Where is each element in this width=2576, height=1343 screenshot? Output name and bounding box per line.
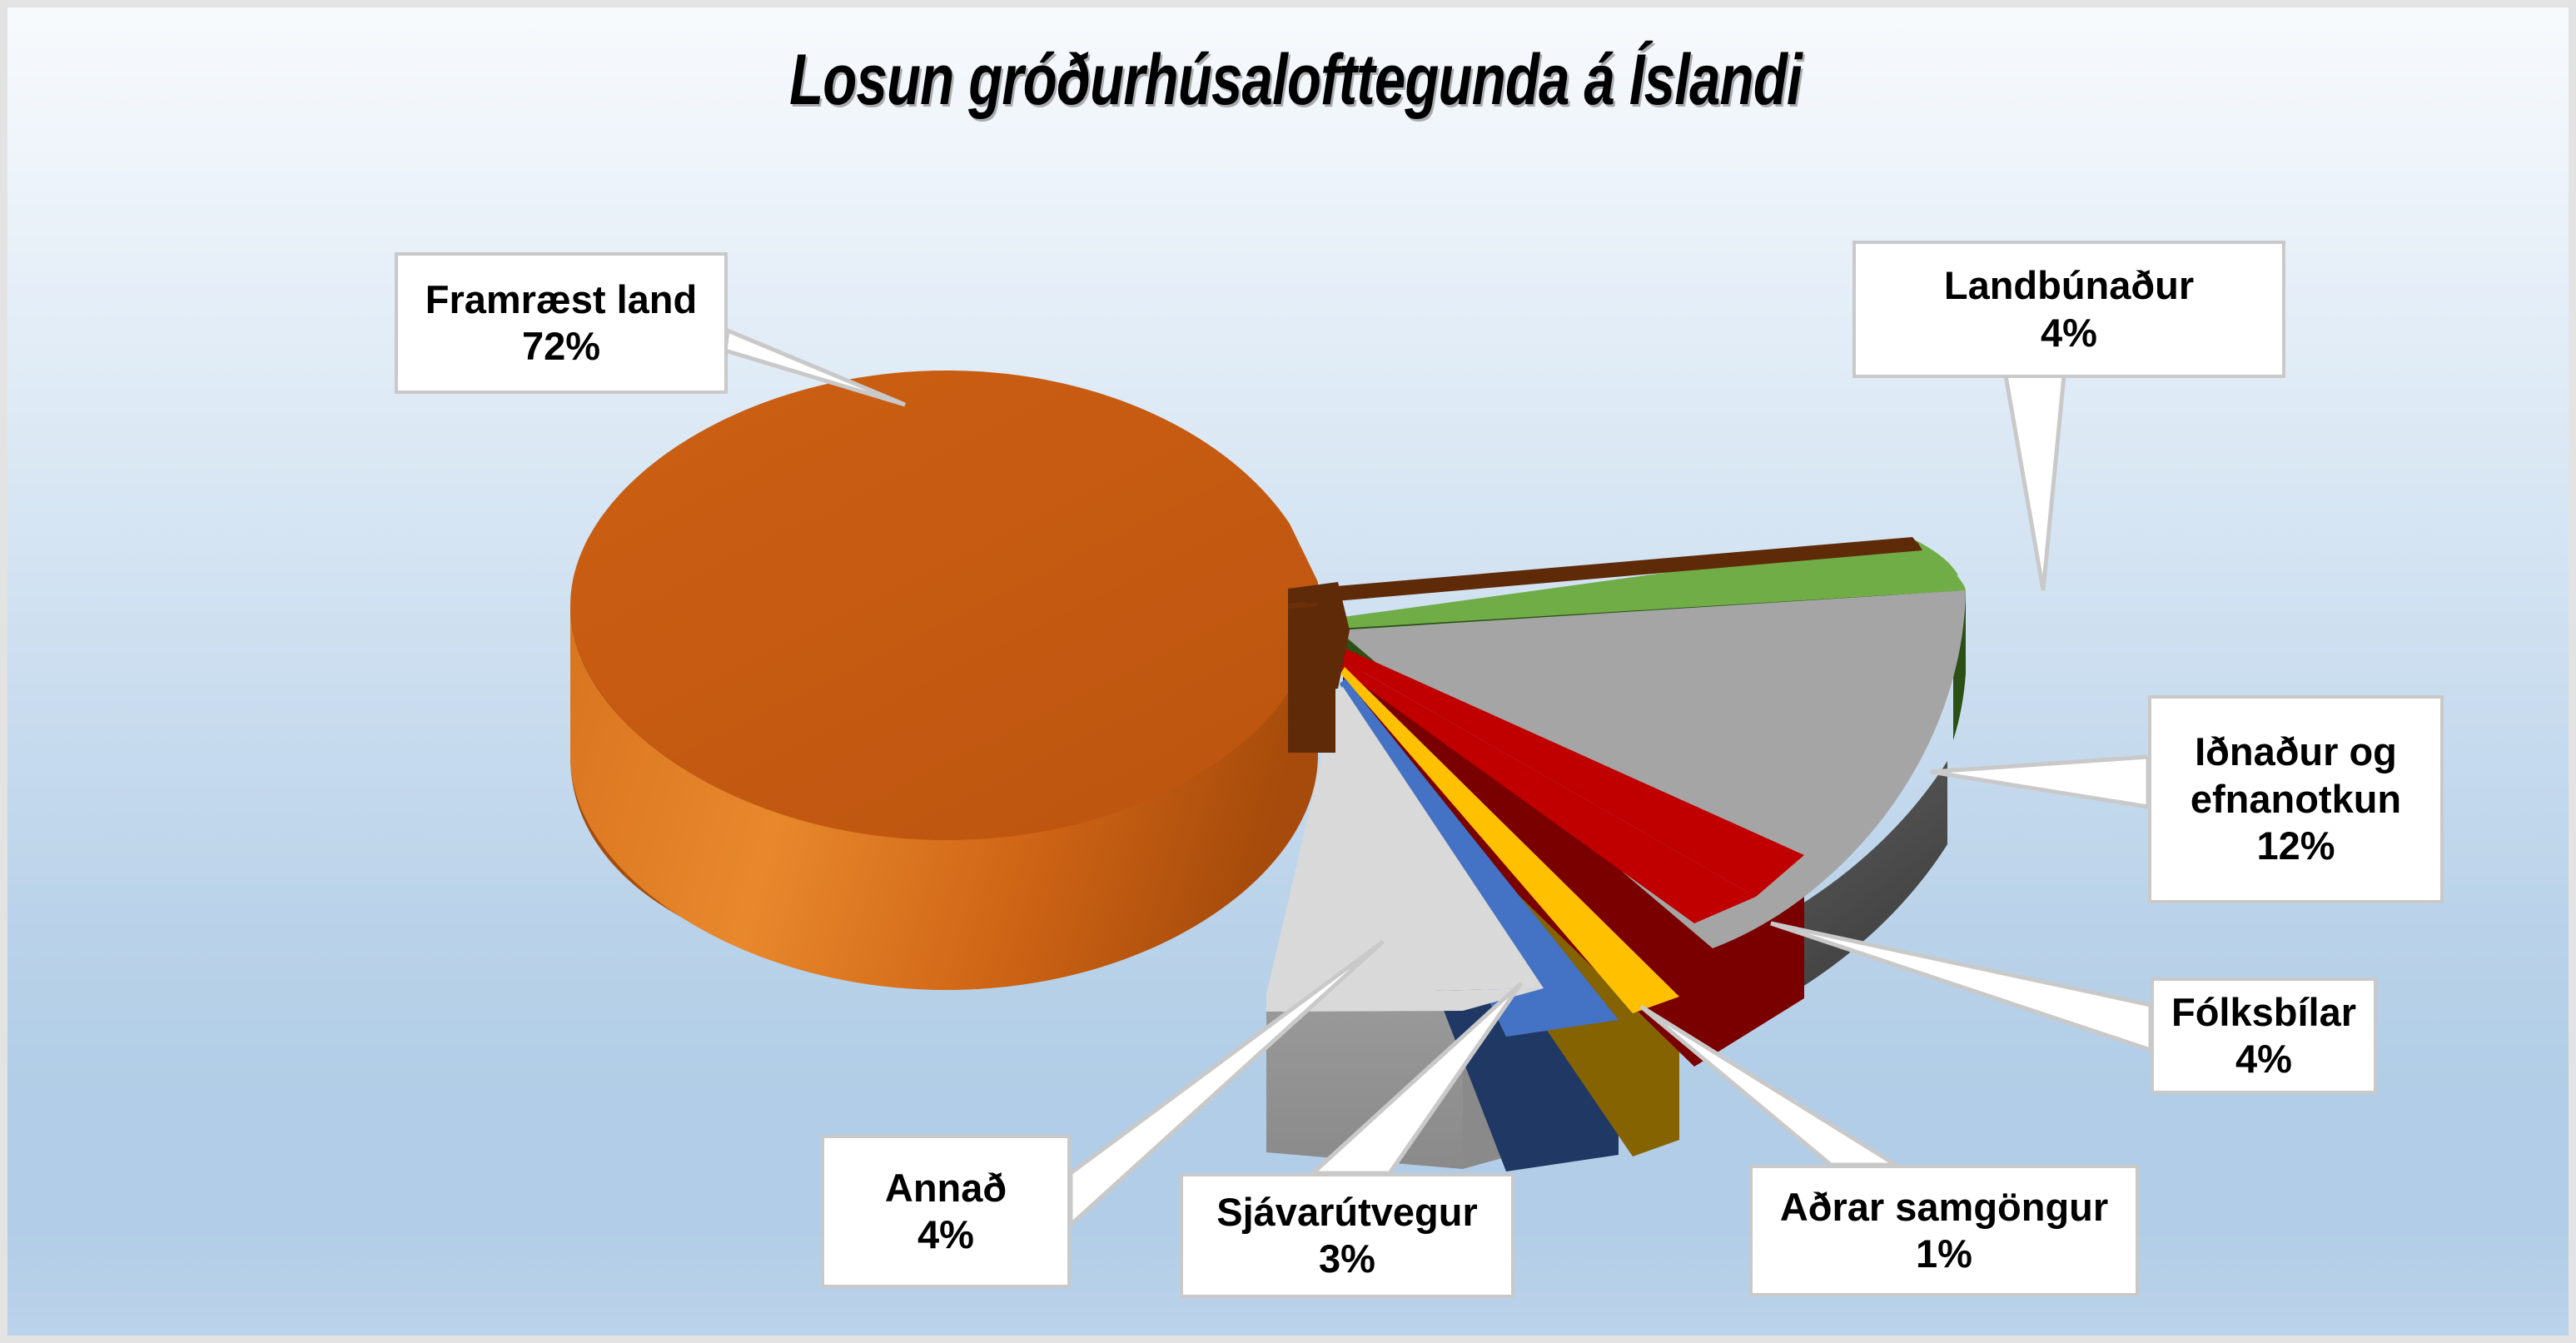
label-value: 4%	[2235, 1036, 2292, 1082]
label-name: Sjávarútvegur	[1216, 1189, 1477, 1236]
label-framraest-land[interactable]: Framræst land 72%	[395, 252, 728, 394]
label-value: 72%	[522, 323, 600, 370]
leader-folksbilar	[1771, 923, 2151, 1050]
label-name: Annað	[885, 1165, 1007, 1211]
label-landbunadur[interactable]: Landbúnaður 4%	[1852, 241, 2285, 378]
label-annad[interactable]: Annað 4%	[821, 1135, 1071, 1288]
label-value: 12%	[2256, 823, 2335, 869]
label-adrar-samgongur[interactable]: Aðrar samgöngur 1%	[1749, 1165, 2139, 1296]
label-name: Fólksbílar	[2171, 989, 2356, 1036]
label-value: 4%	[918, 1211, 974, 1258]
leader-idnadur	[1931, 757, 2148, 807]
label-name-line1: Iðnaður og	[2195, 729, 2397, 775]
label-name: Landbúnaður	[1944, 262, 2194, 309]
label-value: 1%	[1916, 1231, 1972, 1277]
label-value: 3%	[1319, 1236, 1375, 1282]
leader-landbunadur	[2006, 376, 2064, 590]
pie-chart-graphic	[7, 7, 2576, 1343]
label-value: 4%	[2041, 310, 2097, 356]
label-name-line2: efnanotkun	[2191, 776, 2401, 823]
label-name: Framræst land	[425, 276, 697, 323]
label-idnadur-og-efnanotkun[interactable]: Iðnaður og efnanotkun 12%	[2148, 695, 2444, 903]
label-name: Aðrar samgöngur	[1780, 1184, 2108, 1231]
label-folksbilar[interactable]: Fólksbílar 4%	[2151, 977, 2377, 1094]
label-sjavarutvegur[interactable]: Sjávarútvegur 3%	[1180, 1173, 1514, 1298]
chart-frame: Losun gróðurhúsalofttegunda á Íslandi	[0, 0, 2576, 1343]
